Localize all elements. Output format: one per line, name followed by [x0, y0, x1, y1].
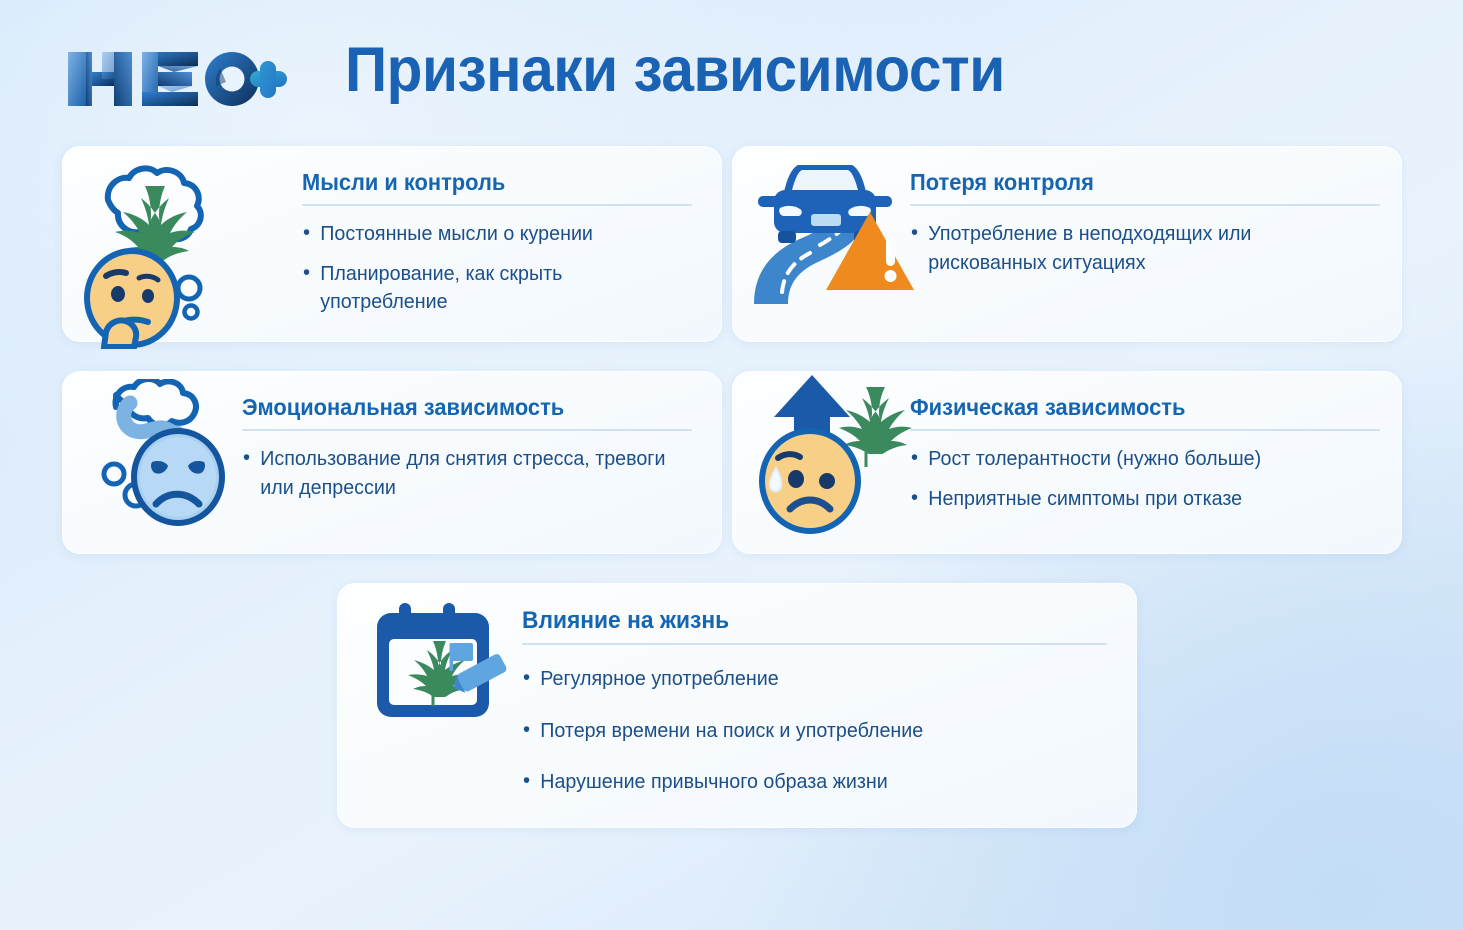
card-emotional-divider — [242, 429, 692, 431]
thinking-face — [87, 251, 177, 347]
license-plate — [811, 214, 841, 226]
list-item: Использование для снятия стресса, тревог… — [242, 445, 674, 502]
card-control-divider — [910, 204, 1380, 206]
thought-bubble-small — [178, 277, 200, 299]
card-physical-bullets: Рост толерантности (нужно больше) Неприя… — [910, 445, 1380, 513]
logo-letter-h — [68, 52, 132, 106]
car-road-warning-triangle-icon — [744, 152, 919, 312]
list-item: Постоянные мысли о курении — [302, 220, 676, 248]
list-item: Регулярное употребление — [522, 665, 1084, 693]
card-physical-body: Физическая зависимость Рост толерантност… — [910, 395, 1380, 513]
list-item: Планирование, как скрыть употребление — [302, 260, 676, 317]
card-physical-title: Физическая зависимость — [910, 395, 1357, 420]
card-thoughts: Мысли и контроль Постоянные мысли о куре… — [62, 146, 722, 342]
sad-face — [134, 431, 222, 523]
sweating-face-up-arrow-cannabis-icon — [750, 373, 930, 538]
list-item: Нарушение привычного образа жизни — [522, 768, 1084, 796]
card-thoughts-bullets: Постоянные мысли о курении Планирование,… — [302, 220, 692, 316]
card-control-bullets: Употребление в неподходящих или рискован… — [910, 220, 1380, 277]
sweating-face — [762, 431, 858, 531]
card-emotional-title: Эмоциональная зависимость — [242, 395, 670, 420]
card-life-bullets: Регулярное употребление Потеря времени н… — [522, 665, 1107, 796]
car-mirror-left — [758, 196, 780, 207]
card-life: Влияние на жизнь Регулярное употребление… — [337, 583, 1137, 828]
page-header: Признаки зависимости — [0, 38, 1463, 122]
list-item: Употребление в неподходящих или рискован… — [910, 220, 1361, 277]
calendar-cannabis-icon — [371, 601, 511, 721]
card-life-divider — [522, 643, 1107, 645]
card-emotional-body: Эмоциональная зависимость Использование … — [242, 395, 692, 502]
page-title: Признаки зависимости — [345, 34, 1005, 106]
card-thoughts-title: Мысли и контроль — [302, 170, 673, 195]
card-control: Потеря контроля Употребление в неподходя… — [732, 146, 1402, 342]
calendar-flag — [451, 643, 473, 661]
eye-right — [819, 473, 835, 489]
card-thoughts-body: Мысли и контроль Постоянные мысли о куре… — [302, 170, 692, 316]
thought-bubble-cannabis-thinking-face-icon — [60, 154, 230, 349]
card-emotional: Эмоциональная зависимость Использование … — [62, 371, 722, 554]
eye-left — [788, 470, 804, 488]
car-mirror-right — [870, 196, 892, 207]
sad-face-thought-cloud-icon — [86, 379, 246, 534]
card-control-title: Потеря контроля — [910, 170, 1357, 195]
thought-bubble-tiny — [185, 306, 198, 319]
card-thoughts-divider — [302, 204, 692, 206]
card-physical: Физическая зависимость Рост толерантност… — [732, 371, 1402, 554]
list-item: Потеря времени на поиск и употребление — [522, 717, 1084, 745]
list-item: Рост толерантности (нужно больше) — [910, 445, 1361, 473]
card-emotional-bullets: Использование для снятия стресса, тревог… — [242, 445, 692, 502]
card-life-body: Влияние на жизнь Регулярное употребление… — [522, 608, 1107, 796]
neo-plus-logo — [62, 46, 287, 112]
logo-letter-e — [142, 52, 198, 106]
card-control-body: Потеря контроля Употребление в неподходя… — [910, 170, 1380, 277]
thought-bubble-small — [104, 464, 124, 484]
thinking-hand — [104, 320, 136, 347]
card-physical-divider — [910, 429, 1380, 431]
card-life-title: Влияние на жизнь — [522, 608, 1078, 634]
list-item: Неприятные симптомы при отказе — [910, 485, 1361, 513]
